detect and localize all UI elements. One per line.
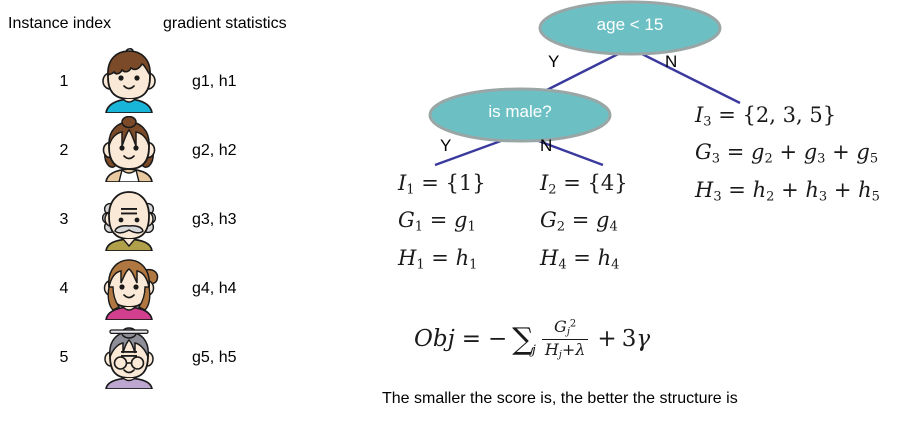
leaf-stats-right: I3 = {2, 3, 5} G3 = g2 + g3 + g5 H3 = h2…	[695, 100, 880, 212]
row-index: 4	[52, 280, 76, 298]
row-gradient-statistics: g4, h4	[192, 280, 236, 298]
table-row: 1 g1, h1	[0, 47, 340, 115]
leaf-middle-line-H: H4 = h4	[540, 243, 628, 280]
leaf-right-line-G: G3 = g2 + g3 + g5	[695, 137, 880, 174]
leaf-left-line-H: H1 = h1	[398, 243, 486, 280]
leaf-right-H-terms: h2 + h3 + h5	[753, 178, 880, 202]
table-row: 3 g3, h3	[0, 185, 340, 253]
fraction-denominator: Hj+λ	[542, 339, 589, 361]
caption-text: The smaller the score is, the better the…	[382, 390, 738, 408]
leaf-right-line-H: H3 = h2 + h3 + h5	[695, 175, 880, 212]
leaf-stats-left: I1 = {1} G1 = g1 H1 = h1	[398, 168, 486, 280]
row-gradient-statistics: g3, h3	[192, 211, 236, 229]
objective-plus: +	[597, 326, 616, 352]
instance-table: Instance index gradient statistics 1 g1,…	[0, 0, 340, 421]
leaf-right-G-terms: g2 + g3 + g5	[751, 140, 878, 164]
row-index: 5	[52, 349, 76, 367]
row-gradient-statistics: g2, h2	[192, 142, 236, 160]
boy-avatar	[95, 47, 163, 113]
objective-equals: =	[462, 326, 481, 352]
objective-lhs: Obj	[414, 326, 455, 352]
old-woman-avatar	[95, 323, 163, 389]
branch-label-male-yes: Y	[440, 136, 451, 156]
objective-fraction: Gj2 Hj+λ	[542, 318, 589, 360]
leaf-left-line-G: G1 = g1	[398, 205, 486, 242]
branch-label-root-no: N	[665, 52, 677, 72]
gamma-symbol: γ	[636, 326, 650, 352]
summation-index: j	[532, 343, 536, 358]
leaf-stats-middle: I2 = {4} G2 = g4 H4 = h4	[540, 168, 628, 280]
girl-avatar	[95, 116, 163, 182]
row-index: 2	[52, 142, 76, 160]
decision-tree-diagram: age < 15 is male? Y N Y N I1 = {1} G1 = …	[340, 0, 920, 421]
young-woman-avatar	[95, 254, 163, 320]
leaf-left-line-I: I1 = {1}	[398, 168, 486, 205]
node-root-label: age < 15	[555, 15, 705, 35]
fraction-numerator: Gj2	[551, 318, 579, 339]
column-header-instance-index: Instance index	[8, 15, 111, 33]
branch-label-male-no: N	[540, 136, 552, 156]
row-index: 1	[52, 73, 76, 91]
table-row: 5 g5, h5	[0, 323, 340, 391]
row-index: 3	[52, 211, 76, 229]
gamma-coefficient: 3	[622, 326, 637, 352]
node-is-male-label: is male?	[445, 102, 595, 122]
table-row: 2 g2, h2	[0, 116, 340, 184]
column-header-gradient-statistics: gradient statistics	[163, 15, 287, 33]
leaf-middle-line-G: G2 = g4	[540, 205, 628, 242]
leaf-middle-line-I: I2 = {4}	[540, 168, 628, 205]
summation-icon: ∑	[512, 325, 533, 355]
old-man-avatar	[95, 185, 163, 251]
row-gradient-statistics: g1, h1	[192, 73, 236, 91]
branch-label-root-yes: Y	[548, 52, 559, 72]
objective-formula: Obj = − ∑ j Gj2 Hj+λ + 3γ	[414, 318, 650, 360]
row-gradient-statistics: g5, h5	[192, 349, 236, 367]
edge-root-no	[630, 48, 740, 103]
objective-minus: −	[488, 326, 507, 352]
leaf-right-line-I: I3 = {2, 3, 5}	[695, 100, 880, 137]
table-row: 4 g4, h4	[0, 254, 340, 322]
